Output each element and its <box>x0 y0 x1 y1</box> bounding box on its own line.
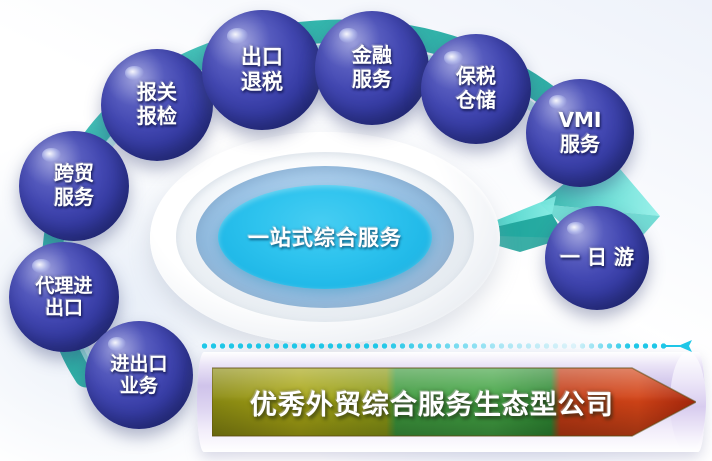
sphere-baoshui-cangchu[interactable]: 保税仓储 <box>421 34 531 144</box>
sphere-label-line: 金融 <box>352 44 392 68</box>
sphere-kuamao-fuwu[interactable]: 跨贸服务 <box>19 131 129 241</box>
sphere-jinchukou-yewu[interactable]: 进出口业务 <box>85 321 193 429</box>
sphere-label-line: 服务 <box>352 68 392 92</box>
sphere-chukou-tuishui[interactable]: 出口退税 <box>202 10 322 130</box>
sphere-jinrong-fuwu[interactable]: 金融服务 <box>315 11 429 125</box>
sphere-label-line: 出口 <box>241 45 283 70</box>
sphere-label-line: 服务 <box>560 133 600 157</box>
sphere-label-line: 业务 <box>120 375 158 397</box>
banner-title: 优秀外贸综合服务生态型公司 <box>212 362 652 442</box>
infographic-canvas: 一站式综合服务 报关报检出口退税金融服务保税仓储VMI服务跨贸服务代理进出口进出… <box>0 0 712 461</box>
sphere-label-line: 一 日 游 <box>560 246 634 270</box>
centre-label: 一站式综合服务 <box>218 185 432 289</box>
sphere-label-line: 报关 <box>137 81 177 105</box>
sphere-vmi-fuwu[interactable]: VMI服务 <box>526 79 634 187</box>
sphere-yiriyou[interactable]: 一 日 游 <box>545 206 649 310</box>
sphere-label-line: 进出口 <box>110 353 167 375</box>
sphere-label-line: 保税 <box>456 65 496 89</box>
sphere-label-line: 代理进 <box>35 275 92 297</box>
sphere-label-line: 退税 <box>241 70 283 95</box>
sphere-label-line: 出口 <box>45 297 83 319</box>
sphere-label-line: 报检 <box>137 105 177 129</box>
sphere-label-line: 服务 <box>54 186 94 210</box>
sphere-label-line: 跨贸 <box>54 162 94 186</box>
sphere-baoguan-baojian[interactable]: 报关报检 <box>101 49 213 161</box>
sphere-label-line: VMI <box>559 109 602 133</box>
sphere-label-line: 仓储 <box>456 89 496 113</box>
